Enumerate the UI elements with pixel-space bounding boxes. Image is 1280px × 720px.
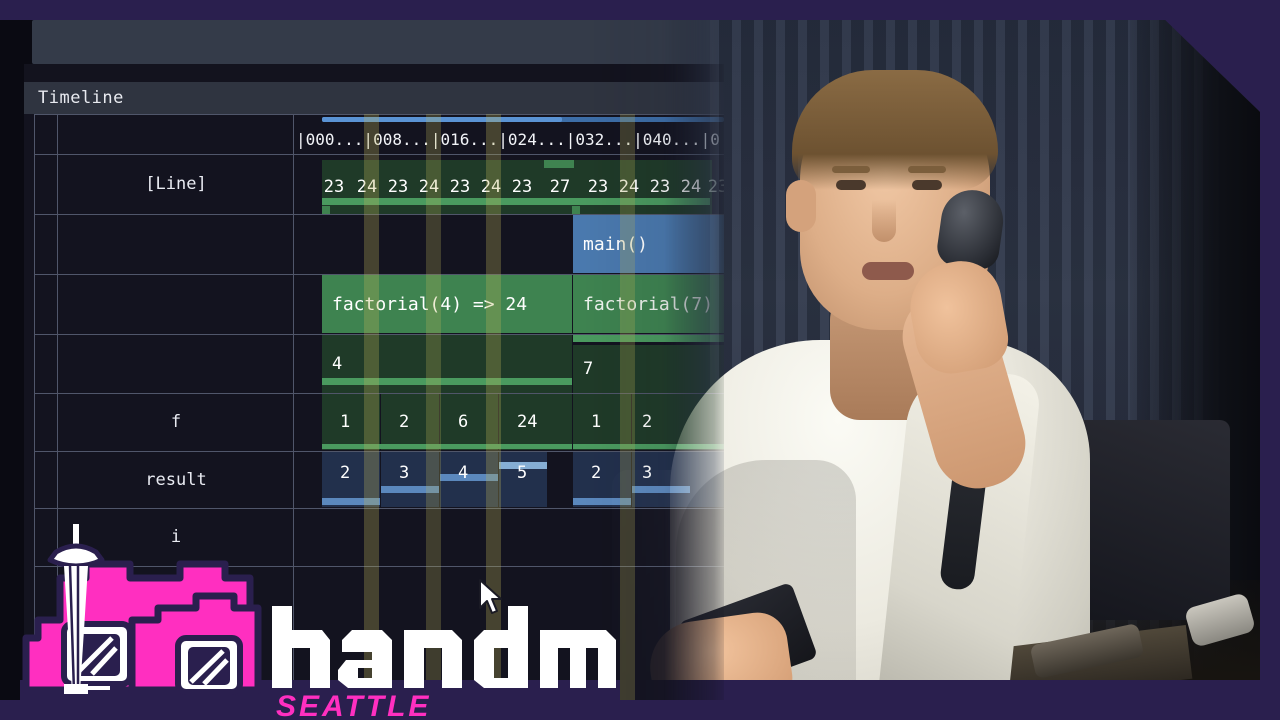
i-bar — [322, 498, 380, 505]
toolbar[interactable] — [32, 20, 718, 64]
i-value: 3 — [389, 452, 439, 494]
wristwatch — [1184, 592, 1257, 648]
speaker-eyebrow-left — [832, 166, 870, 173]
speaker-hair — [792, 70, 998, 190]
speaker-nose — [872, 200, 896, 242]
i-bar — [573, 498, 631, 505]
line-value: 23 — [502, 160, 542, 214]
result-value: 1 — [330, 394, 380, 450]
speaker-ear — [786, 180, 816, 232]
toolbar-shadow — [24, 64, 724, 82]
line-value: 23 — [314, 160, 354, 214]
handmade-seattle-logo: handmade SEATTLE — [20, 520, 620, 720]
panel-title: Timeline — [24, 82, 724, 114]
frame-factorial-4[interactable]: factorial(4) => 24 — [322, 275, 572, 333]
f-value: 7 — [573, 345, 633, 393]
speaker-eyebrow-right — [908, 166, 946, 173]
screen-root: Timeline [Line] f result i Add watch... — [0, 0, 1280, 720]
f-value: 4 — [322, 335, 382, 393]
line-value: 23 — [378, 160, 418, 214]
line-value: 23 — [440, 160, 480, 214]
frame-factorial-7[interactable]: factorial(7) — [573, 275, 724, 333]
frame-main[interactable]: main() — [573, 215, 724, 273]
speaker-eye-left — [836, 180, 866, 190]
monitor-icon-right — [178, 638, 240, 692]
result-value: 2 — [632, 394, 682, 450]
row-label-line[interactable]: [Line] — [58, 154, 294, 214]
i-value: 2 — [581, 452, 631, 494]
logo-subtitle: SEATTLE — [276, 690, 431, 720]
result-value: 1 — [581, 394, 631, 450]
timeline-ruler[interactable]: |000...|008...|016...|024...|032...|040.… — [296, 124, 724, 154]
result-value: 6 — [448, 394, 498, 450]
i-value: 3 — [632, 452, 682, 494]
i-value: 5 — [507, 452, 557, 494]
speaker — [640, 40, 1260, 700]
line-value: 23 — [698, 160, 724, 214]
result-value: 2 — [389, 394, 439, 450]
line-value: 23 — [578, 160, 618, 214]
timeline-scrollbar-thumb[interactable] — [322, 117, 562, 122]
speaker-mouth — [862, 262, 914, 280]
i-value: 4 — [448, 452, 498, 494]
i-value: 2 — [330, 452, 380, 494]
line-value: 23 — [640, 160, 680, 214]
speaker-eye-right — [912, 180, 942, 190]
mouse-cursor — [478, 578, 504, 618]
row-label-f[interactable]: f — [58, 393, 294, 451]
result-value: 24 — [507, 394, 567, 450]
f-track-bar — [573, 335, 724, 342]
row-label-result[interactable]: result — [58, 451, 294, 508]
line-value: 27 — [540, 160, 580, 214]
